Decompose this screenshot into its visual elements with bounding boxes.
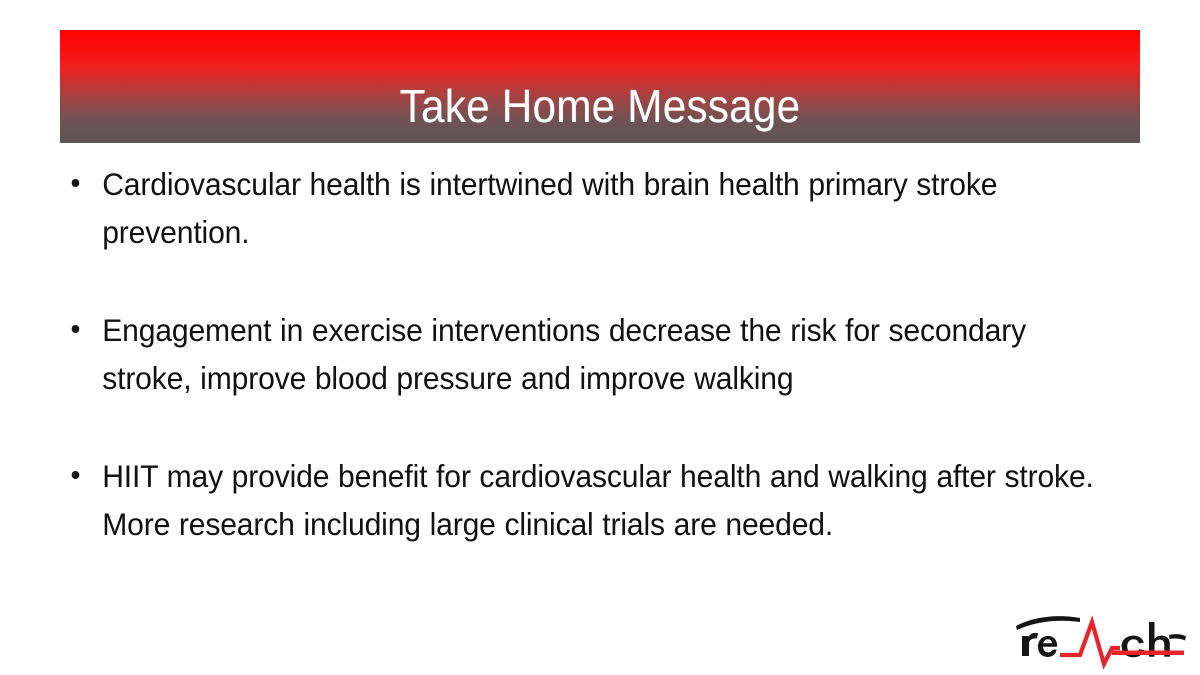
list-item-text: HIIT may provide benefit for cardiovascu…: [102, 452, 1100, 548]
list-item-text: Engagement in exercise interventions dec…: [102, 306, 1100, 402]
list-item: Cardiovascular health is intertwined wit…: [64, 160, 1100, 256]
reach-wordmark-icon: [1008, 608, 1194, 672]
slide-canvas: Take Home Message Cardiovascular health …: [0, 0, 1200, 675]
page-title: Take Home Message: [103, 80, 1097, 132]
list-item-text: Cardiovascular health is intertwined wit…: [102, 160, 1100, 256]
list-item: HIIT may provide benefit for cardiovascu…: [64, 452, 1100, 548]
bullet-dot-icon: [72, 325, 80, 333]
title-banner: Take Home Message: [60, 30, 1140, 143]
bullet-dot-icon: [72, 179, 80, 187]
bullet-list: Cardiovascular health is intertwined wit…: [64, 160, 1149, 548]
list-item: Engagement in exercise interventions dec…: [64, 306, 1100, 402]
reach-logo: Research ~ Exercise And Cardiovascular H…: [1008, 608, 1194, 672]
bullet-dot-icon: [72, 471, 80, 479]
